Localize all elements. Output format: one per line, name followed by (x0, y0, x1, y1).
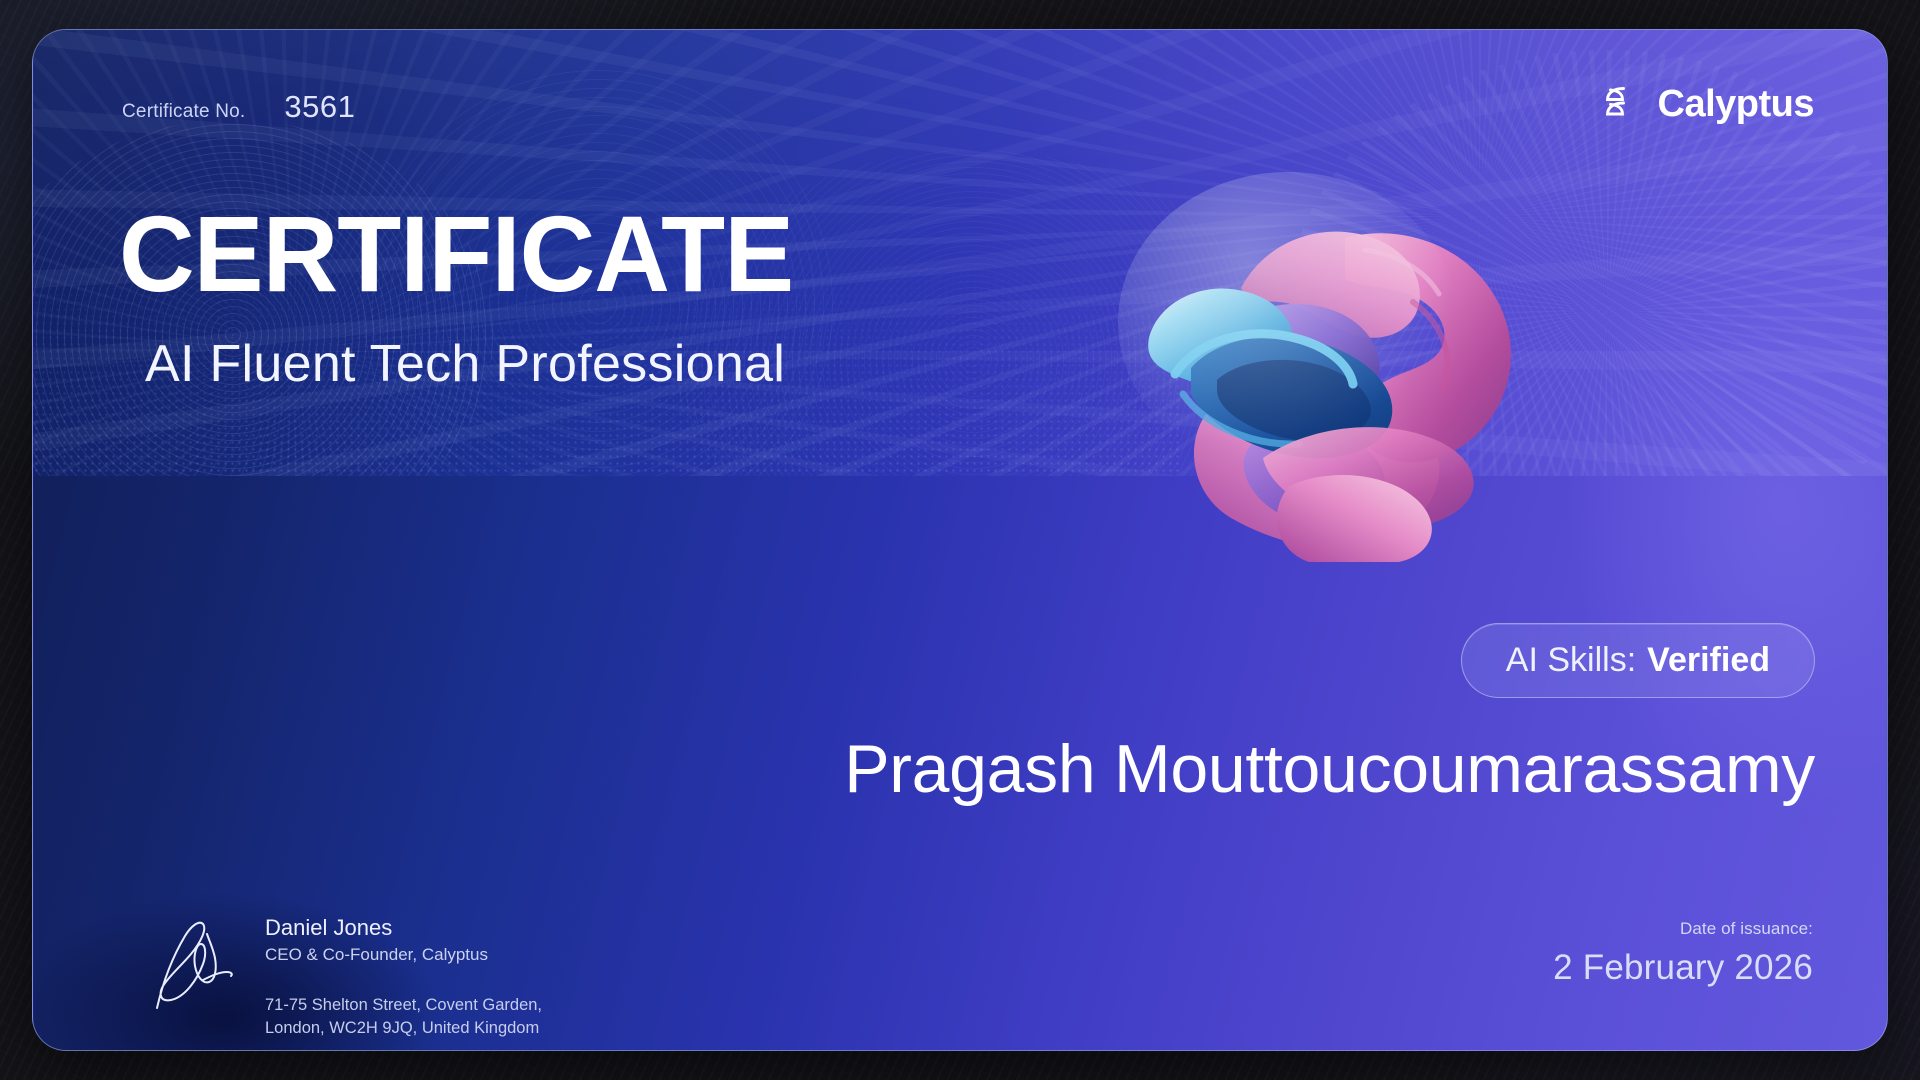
certificate-card: Certificate No. 3561 Calyptus CERTIFICAT… (32, 29, 1888, 1051)
signatory-name: Daniel Jones (265, 914, 542, 942)
brand-logo: Calyptus (1602, 82, 1814, 127)
certificate-number-label: Certificate No. (122, 101, 245, 123)
screenshot-root: Certificate No. 3561 Calyptus CERTIFICAT… (0, 0, 1920, 1080)
issuance-label: Date of issuance: (1553, 919, 1813, 939)
status-badge-prefix: AI Skills: (1506, 641, 1636, 680)
abstract-3d-fluid-sculpture-icon (1113, 142, 1533, 562)
status-badge[interactable]: AI Skills: Verified (1461, 623, 1815, 698)
issuance-date: 2 February 2026 (1553, 948, 1813, 988)
brand-name: Calyptus (1658, 83, 1814, 126)
signatory-role: CEO & Co-Founder, Calyptus (265, 944, 542, 966)
handwritten-signature-icon (145, 910, 237, 1020)
page-title: CERTIFICATE (119, 200, 793, 308)
issuance-block: Date of issuance: 2 February 2026 (1553, 919, 1813, 988)
address-line-1: 71-75 Shelton Street, Covent Garden, (265, 994, 542, 1017)
signatory-details: Daniel Jones CEO & Co-Founder, Calyptus … (265, 914, 542, 1040)
status-badge-value: Verified (1647, 641, 1770, 680)
recipient-name: Pragash Mouttoucoumarassamy (844, 730, 1815, 808)
certificate-number: Certificate No. 3561 (122, 89, 355, 125)
certificate-subtitle: AI Fluent Tech Professional (145, 338, 785, 390)
certificate-number-value: 3561 (284, 89, 355, 125)
address-line-2: London, WC2H 9JQ, United Kingdom (265, 1017, 542, 1040)
calyptus-leaf-icon (1602, 82, 1642, 127)
signature-block: Daniel Jones CEO & Co-Founder, Calyptus … (145, 914, 542, 1040)
